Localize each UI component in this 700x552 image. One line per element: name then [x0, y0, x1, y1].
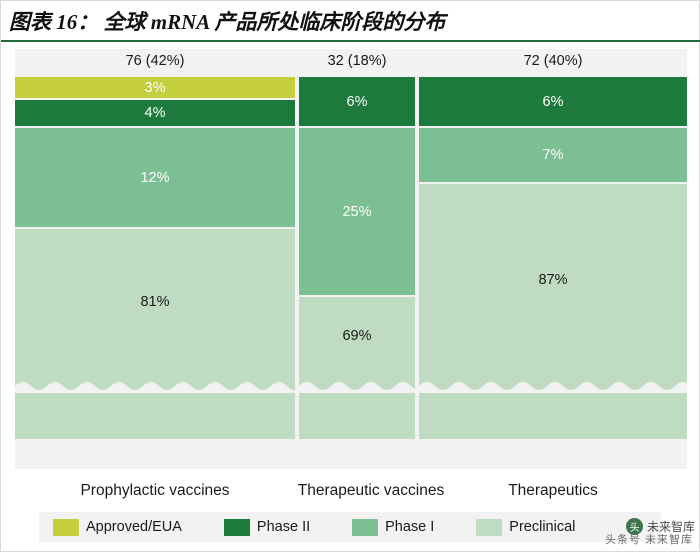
chart-title-bar: 图表 16： 全球 mRNA 产品所处临床阶段的分布 — [1, 1, 700, 42]
chart-legend: Approved/EUA Phase II Phase I Preclinica… — [39, 512, 661, 542]
column-total-2: 72 (40%) — [419, 53, 687, 69]
segment-phase-i[interactable]: 25% — [299, 128, 415, 297]
segment-label: 12% — [140, 170, 169, 186]
segment-phase-ii[interactable]: 6% — [299, 77, 415, 128]
legend-label: Phase II — [257, 519, 310, 535]
watermark-subtext: 头条号 未来智库 — [605, 531, 693, 547]
column-total-0: 76 (42%) — [15, 53, 295, 69]
column-base-fill — [299, 393, 415, 439]
segment-phase-ii[interactable]: 4% — [15, 100, 295, 128]
legend-label: Approved/EUA — [86, 519, 182, 535]
column-prophylactic-vaccines: 3% 4% 12% 81% — [15, 77, 295, 375]
legend-item-preclinical[interactable]: Preclinical — [476, 519, 575, 536]
legend-label: Phase I — [385, 519, 434, 535]
segment-label: 25% — [342, 204, 371, 220]
torn-edge-icon — [299, 375, 415, 393]
segment-preclinical[interactable]: 87% — [419, 184, 687, 375]
segment-label: 4% — [145, 105, 166, 121]
segment-label: 69% — [342, 328, 371, 344]
column-therapeutics: 6% 7% 87% — [419, 77, 687, 375]
legend-label: Preclinical — [509, 519, 575, 535]
segment-preclinical[interactable]: 69% — [299, 297, 415, 375]
segment-label: 81% — [140, 294, 169, 310]
segment-label: 7% — [543, 147, 564, 163]
segment-phase-i[interactable]: 12% — [15, 128, 295, 229]
legend-item-phase-ii[interactable]: Phase II — [224, 519, 310, 536]
segment-label: 6% — [543, 94, 564, 110]
chart-plot-area: 76 (42%) 32 (18%) 72 (40%) 3% 4% 12% 81%… — [15, 49, 687, 469]
segment-label: 3% — [145, 80, 166, 96]
axis-label-prophylactic-vaccines: Prophylactic vaccines — [15, 482, 295, 500]
segment-preclinical[interactable]: 81% — [15, 229, 295, 375]
column-base-fill — [15, 393, 295, 439]
column-total-1: 32 (18%) — [299, 53, 415, 69]
legend-item-phase-i[interactable]: Phase I — [352, 519, 434, 536]
segment-label: 87% — [538, 272, 567, 288]
legend-swatch-preclinical — [476, 519, 502, 536]
axis-label-therapeutics: Therapeutics — [419, 482, 687, 500]
chart-page: 图表 16： 全球 mRNA 产品所处临床阶段的分布 76 (42%) 32 (… — [0, 0, 700, 552]
segment-label: 6% — [347, 94, 368, 110]
legend-swatch-phase-ii — [224, 519, 250, 536]
segment-phase-i[interactable]: 7% — [419, 128, 687, 184]
legend-swatch-phase-i — [352, 519, 378, 536]
segment-phase-ii[interactable]: 6% — [419, 77, 687, 128]
page-title: 图表 16： 全球 mRNA 产品所处临床阶段的分布 — [1, 6, 445, 36]
segment-approved-eua[interactable]: 3% — [15, 77, 295, 100]
torn-edge-icon — [15, 375, 295, 393]
column-base-fill — [419, 393, 687, 439]
legend-swatch-approved-eua — [53, 519, 79, 536]
torn-edge-icon — [419, 375, 687, 393]
legend-item-approved-eua[interactable]: Approved/EUA — [53, 519, 182, 536]
column-therapeutic-vaccines: 6% 25% 69% — [299, 77, 415, 375]
